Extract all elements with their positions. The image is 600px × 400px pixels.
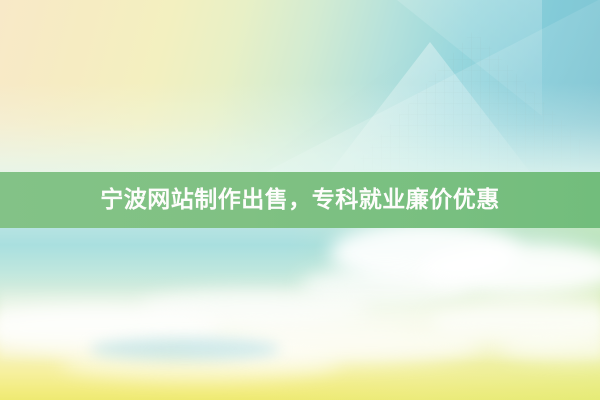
sky-blue-patch [90,338,280,360]
sky-with-clouds-photo [0,228,600,400]
banner-bottom-fade [0,0,600,172]
headline-text: 宁波网站制作出售，专科就业廉价优惠 [100,189,500,212]
abstract-gradient-artwork [0,0,600,172]
headline-band: 宁波网站制作出售，专科就业廉价优惠 [0,172,600,228]
banner-screenshot: 宁波网站制作出售，专科就业廉价优惠 [0,0,600,400]
